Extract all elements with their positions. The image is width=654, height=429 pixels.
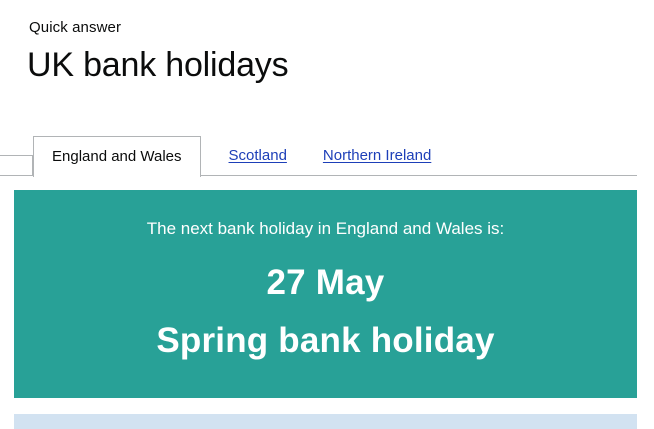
- nation-tabs: England and Wales Scotland Northern Irel…: [0, 136, 654, 177]
- next-holiday-panel: The next bank holiday in England and Wal…: [14, 190, 637, 398]
- tab-scotland[interactable]: Scotland: [229, 136, 287, 177]
- page-title: UK bank holidays: [27, 45, 288, 85]
- page-caption: Quick answer: [29, 19, 288, 37]
- tab-england-and-wales[interactable]: England and Wales: [33, 136, 201, 177]
- page-header: Quick answer UK bank holidays: [29, 0, 288, 85]
- tab-list: England and Wales Scotland Northern Irel…: [33, 136, 431, 176]
- tab-northern-ireland[interactable]: Northern Ireland: [323, 136, 431, 177]
- next-holiday-intro: The next bank holiday in England and Wal…: [14, 190, 637, 240]
- next-holiday-date: 27 May: [14, 240, 637, 304]
- next-holiday-name: Spring bank holiday: [14, 304, 637, 362]
- info-bar: [14, 414, 637, 429]
- tab-container-edge: [0, 155, 33, 175]
